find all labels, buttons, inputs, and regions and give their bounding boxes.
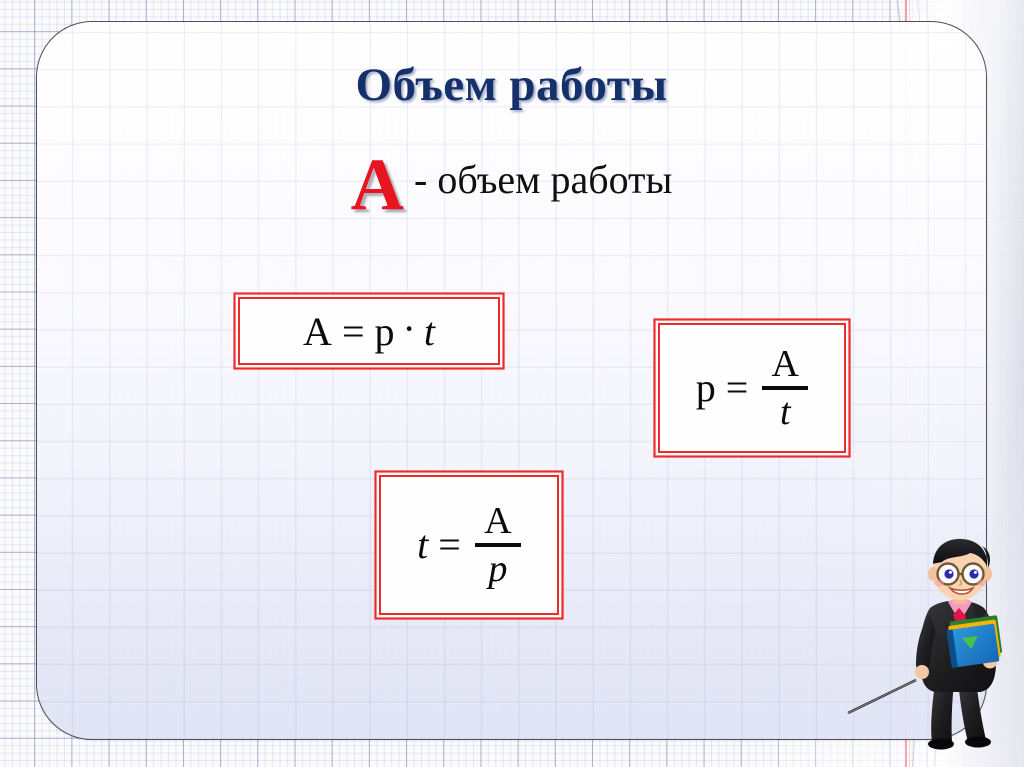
- formula-box-time: t = A p: [379, 475, 559, 615]
- formula-productivity-operator: =: [726, 364, 749, 411]
- formula-work-lhs: A: [303, 308, 332, 355]
- formula-productivity-expression: p = A t: [696, 345, 809, 430]
- formula-time-numerator: A: [478, 502, 517, 543]
- formula-productivity-fraction: A t: [762, 345, 808, 430]
- definition-line: A - объем работы: [37, 148, 986, 222]
- formula-work-rhs-right: t: [424, 308, 435, 355]
- symbol-a-glyph: A: [351, 144, 404, 226]
- cartoon-schoolboy-icon: [896, 536, 1024, 751]
- formula-work-rhs-left: p: [375, 308, 395, 355]
- definition-separator: -: [404, 157, 437, 202]
- slide-canvas: Объем работы A - объем работы A = p · t …: [0, 0, 1024, 767]
- formula-time-denominator: p: [482, 547, 513, 588]
- formula-box-work: A = p · t: [238, 297, 500, 365]
- formula-work-multiply-sign: ·: [403, 305, 416, 352]
- formula-work-operator: =: [342, 308, 365, 355]
- definition-meaning: объем работы: [437, 157, 672, 202]
- formula-time-operator: =: [438, 521, 461, 568]
- formula-productivity-lhs: p: [696, 364, 716, 411]
- formula-time-expression: t = A p: [417, 502, 521, 587]
- formula-productivity-numerator: A: [766, 345, 805, 386]
- formula-time-lhs: t: [417, 521, 428, 568]
- formula-box-productivity: p = A t: [658, 323, 846, 453]
- page-title: Объем работы: [37, 58, 986, 112]
- formula-productivity-denominator: t: [774, 390, 797, 431]
- formula-time-fraction: A p: [475, 502, 521, 587]
- content-panel: Объем работы A - объем работы A = p · t …: [36, 21, 987, 740]
- formula-work-expression: A = p · t: [303, 308, 435, 355]
